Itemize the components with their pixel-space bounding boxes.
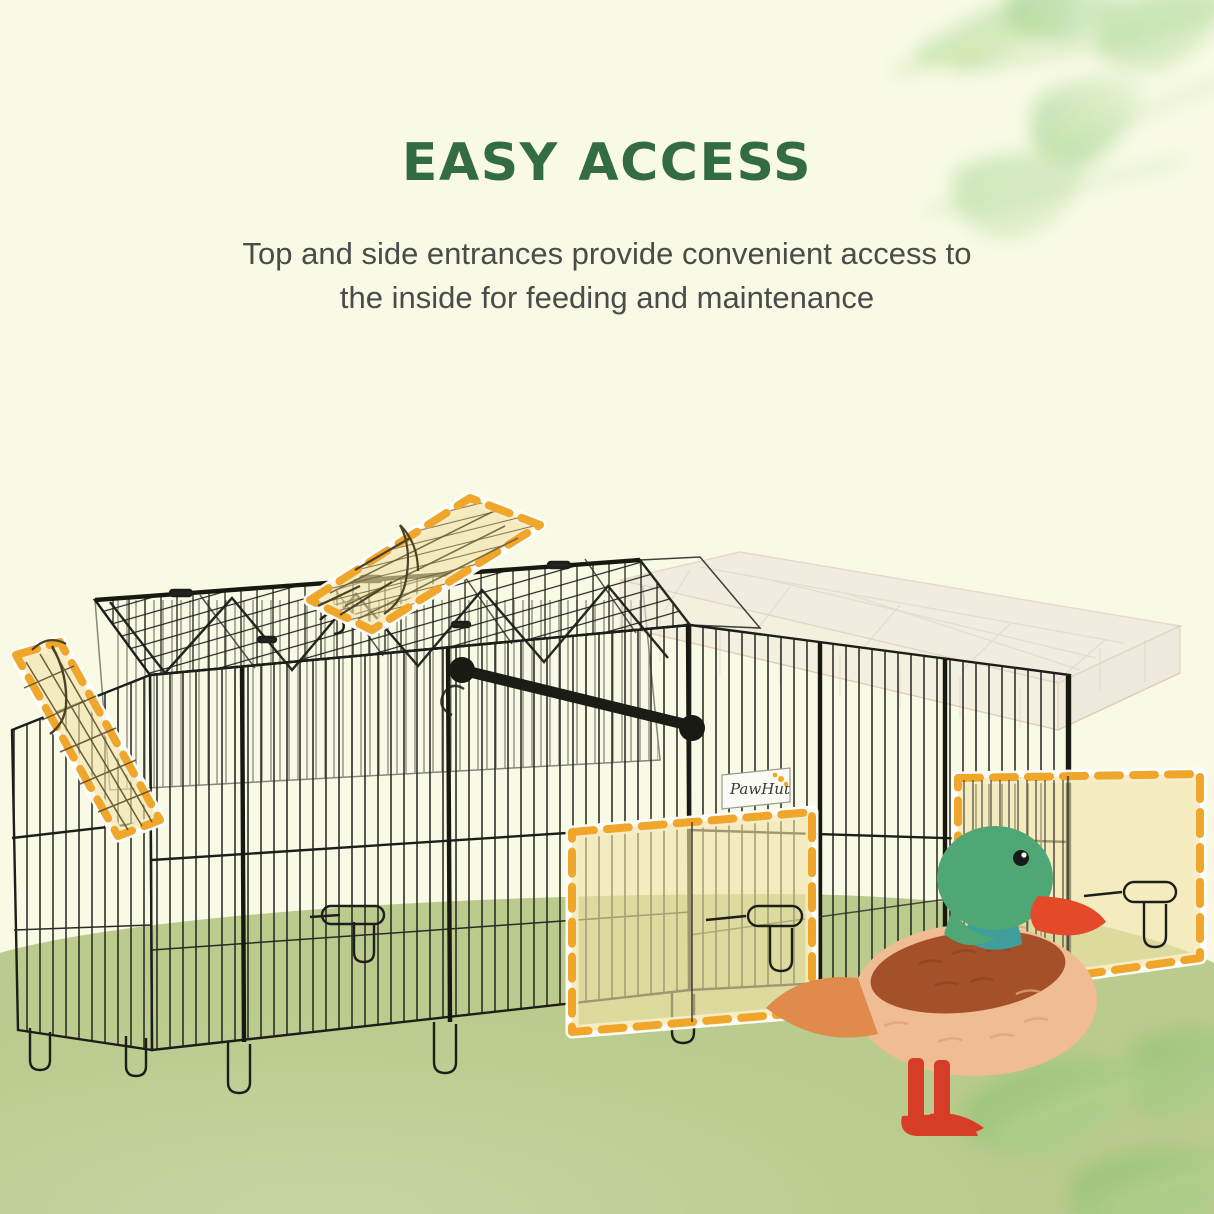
page-subtitle: Top and side entrances provide convenien… <box>147 232 1067 320</box>
marketing-banner: EASY ACCESS Top and side entrances provi… <box>0 0 1214 1214</box>
subtitle-line-1: Top and side entrances provide convenien… <box>147 232 1067 276</box>
brand-plate: PawHut <box>722 768 791 809</box>
subtitle-line-2: the inside for feeding and maintenance <box>147 276 1067 320</box>
product-illustration: PawHut <box>0 430 1214 1150</box>
page-title: EASY ACCESS <box>0 133 1214 193</box>
brand-label: PawHut <box>729 780 791 798</box>
